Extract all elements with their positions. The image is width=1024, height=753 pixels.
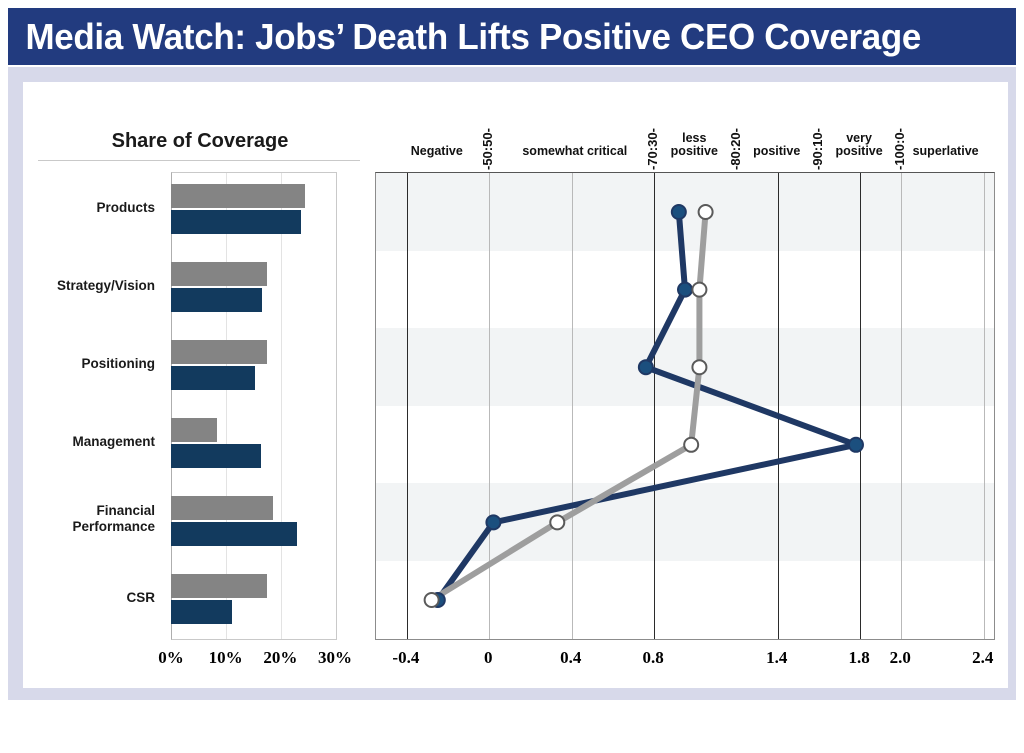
line-marker-gray-line: [699, 205, 713, 219]
bar-gray-series: [171, 340, 267, 364]
line-path-gray-line: [432, 212, 706, 600]
line-marker-navy-line: [678, 283, 692, 297]
title-divider: [38, 160, 360, 161]
line-x-tick-label: 2.4: [948, 648, 1018, 668]
line-marker-gray-line: [692, 360, 706, 374]
line-path-navy-line: [438, 212, 856, 600]
line-marker-gray-line: [425, 593, 439, 607]
share-of-coverage-title-text: Share of Coverage: [112, 130, 289, 152]
bar-navy-series: [171, 600, 232, 624]
bar-group: [171, 484, 337, 562]
share-of-coverage-title: Share of Coverage: [40, 130, 360, 158]
slide: Media Watch: Jobs’ Death Lifts Positive …: [0, 0, 1024, 753]
bar-group: [171, 250, 337, 328]
line-marker-gray-line: [550, 515, 564, 529]
bar-group: [171, 562, 337, 640]
bar-gray-series: [171, 418, 217, 442]
bar-category-label: Strategy/Vision: [15, 278, 155, 294]
title-bar: Media Watch: Jobs’ Death Lifts Positive …: [8, 8, 1016, 65]
bar-category-label: Products: [15, 200, 155, 216]
line-chart-x-axis: -0.400.40.81.41.82.02.4: [375, 648, 995, 676]
line-x-tick-label: -0.4: [371, 648, 441, 668]
line-marker-navy-line: [486, 515, 500, 529]
scale-ratio-label: -50:50-: [480, 128, 495, 170]
line-x-tick-label: 0.4: [536, 648, 606, 668]
bar-category-label: Positioning: [15, 356, 155, 372]
scale-ratio-label: -100:0-: [892, 128, 907, 170]
bar-category-label: Management: [15, 434, 155, 450]
scale-word-label: Negative: [377, 145, 497, 158]
bar-navy-series: [171, 522, 297, 546]
bar-chart-series: [171, 172, 337, 640]
bar-chart-x-axis: 0%10%20%30%: [171, 648, 337, 676]
scale-ratio-label: -90:10-: [810, 128, 825, 170]
bar-navy-series: [171, 366, 255, 390]
bar-category-label: CSR: [15, 590, 155, 606]
bar-gray-series: [171, 496, 273, 520]
bar-x-tick-label: 10%: [196, 648, 256, 668]
line-marker-gray-line: [684, 438, 698, 452]
bar-category-label: FinancialPerformance: [15, 503, 155, 535]
line-chart-svg: [376, 173, 994, 639]
line-x-tick-label: 0.8: [618, 648, 688, 668]
scale-label-strip: Negativesomewhat criticalless positivepo…: [375, 98, 1015, 172]
bar-navy-series: [171, 288, 262, 312]
line-x-tick-label: 0: [453, 648, 523, 668]
page-title: Media Watch: Jobs’ Death Lifts Positive …: [8, 16, 921, 58]
line-x-tick-label: 2.0: [865, 648, 935, 668]
scale-word-label: somewhat critical: [515, 145, 635, 158]
bar-group: [171, 328, 337, 406]
scale-ratio-label: -70:30-: [645, 128, 660, 170]
line-marker-navy-line: [639, 360, 653, 374]
bar-navy-series: [171, 210, 301, 234]
bar-gray-series: [171, 262, 267, 286]
bar-group: [171, 406, 337, 484]
bar-navy-series: [171, 444, 261, 468]
line-marker-navy-line: [849, 438, 863, 452]
bar-x-tick-label: 20%: [250, 648, 310, 668]
line-marker-navy-line: [672, 205, 686, 219]
line-marker-gray-line: [692, 283, 706, 297]
bar-x-tick-label: 0%: [141, 648, 201, 668]
line-x-tick-label: 1.4: [742, 648, 812, 668]
scale-ratio-label: -80:20-: [728, 128, 743, 170]
line-chart-plot-area: [375, 172, 995, 640]
bar-x-tick-label: 30%: [305, 648, 365, 668]
bar-gray-series: [171, 184, 305, 208]
bar-chart-category-labels: ProductsStrategy/VisionPositioningManage…: [20, 172, 163, 640]
bar-gray-series: [171, 574, 267, 598]
bar-group: [171, 172, 337, 250]
